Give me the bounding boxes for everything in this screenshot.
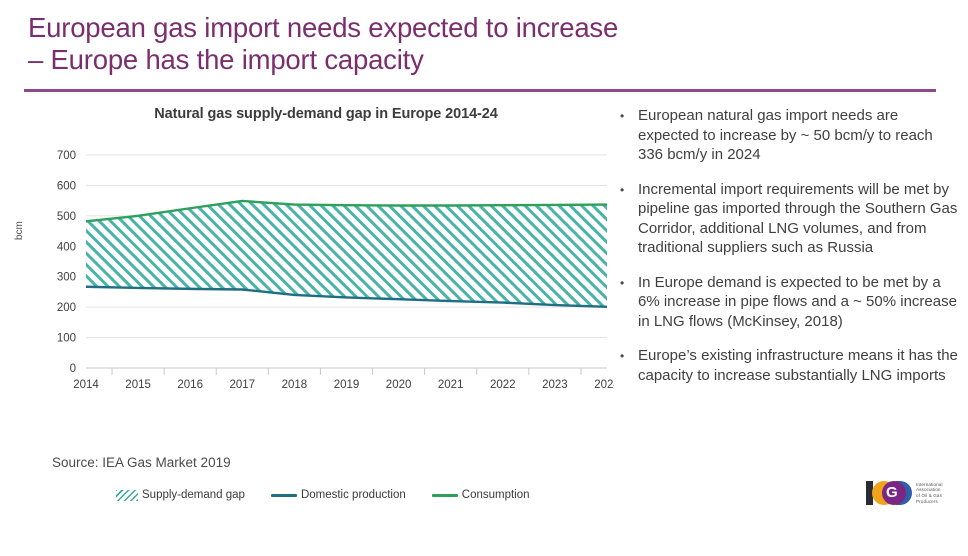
chart-x-ticks: [112, 368, 581, 375]
page-title: European gas import needs expected to in…: [28, 12, 928, 76]
logo-wordmark: International Association of Oil & Gas P…: [916, 482, 943, 504]
y-tick-label: 600: [57, 180, 76, 192]
y-tick-label: 300: [57, 272, 76, 284]
y-tick-label: 700: [57, 150, 76, 162]
x-tick-label: 2020: [386, 379, 412, 391]
legend-item-supply-demand-gap[interactable]: Supply-demand gap: [116, 489, 245, 501]
chart-panel: Natural gas supply-demand gap in Europe …: [10, 100, 614, 420]
legend-label-supply-demand-gap: Supply-demand gap: [142, 489, 245, 501]
x-tick-label: 2016: [177, 379, 203, 391]
list-item: • In Europe demand is expected to be met…: [620, 273, 960, 332]
list-item: • Europe’s existing infrastructure means…: [620, 346, 960, 385]
legend-item-domestic-production[interactable]: Domestic production: [271, 489, 406, 501]
bullet-marker-icon: •: [620, 273, 638, 332]
bullet-list: • European natural gas import needs are …: [620, 106, 960, 400]
x-tick-label: 2014: [73, 379, 99, 391]
source-caption: Source: IEA Gas Market 2019: [52, 455, 231, 470]
x-tick-label: 2018: [282, 379, 308, 391]
x-tick-label: 2015: [125, 379, 151, 391]
legend-label-consumption: Consumption: [462, 489, 530, 501]
y-tick-label: 400: [57, 241, 76, 253]
bullet-marker-icon: •: [620, 106, 638, 165]
y-tick-label: 100: [57, 333, 76, 345]
chart-legend: Supply-demand gap Domestic production Co…: [116, 489, 546, 501]
bullet-text: Europe’s existing infrastructure means i…: [638, 346, 960, 385]
x-tick-label: 2021: [438, 379, 464, 391]
y-tick-label: 200: [57, 302, 76, 314]
x-tick-label: 2023: [542, 379, 568, 391]
bullet-marker-icon: •: [620, 180, 638, 258]
slide-root: European gas import needs expected to in…: [0, 0, 968, 556]
title-divider: [24, 89, 936, 92]
x-tick-label: 2022: [490, 379, 516, 391]
bullet-text: In Europe demand is expected to be met b…: [638, 273, 960, 332]
line-swatch-icon-production: [271, 494, 297, 497]
logo-letter-g: G: [886, 484, 898, 502]
iogp-logo: G International Association of Oil & Gas…: [866, 476, 960, 510]
x-tick-label: 2017: [230, 379, 256, 391]
bullet-text: Incremental import requirements will be …: [638, 180, 960, 258]
chart-y-tick-labels: 0100200300400500600700: [57, 150, 76, 375]
list-item: • Incremental import requirements will b…: [620, 180, 960, 258]
line-swatch-icon-consumption: [432, 494, 458, 497]
series-supply-demand-gap: [86, 201, 607, 307]
x-tick-label: 2024: [594, 379, 614, 391]
list-item: • European natural gas import needs are …: [620, 106, 960, 165]
legend-item-consumption[interactable]: Consumption: [432, 489, 530, 501]
chart-x-tick-labels: 2014201520162017201820192020202120222023…: [73, 379, 614, 391]
chart-svg: 0100200300400500600700 20142015201620172…: [10, 100, 614, 420]
iogp-logo-mark-icon: G: [866, 480, 912, 506]
x-tick-label: 2019: [334, 379, 360, 391]
hatch-swatch-icon: [116, 490, 138, 501]
bullet-text: European natural gas import needs are ex…: [638, 106, 960, 165]
title-block: European gas import needs expected to in…: [28, 12, 928, 76]
bullet-marker-icon: •: [620, 346, 638, 385]
y-tick-label: 500: [57, 211, 76, 223]
y-tick-label: 0: [70, 363, 76, 375]
legend-label-domestic-production: Domestic production: [301, 489, 406, 501]
